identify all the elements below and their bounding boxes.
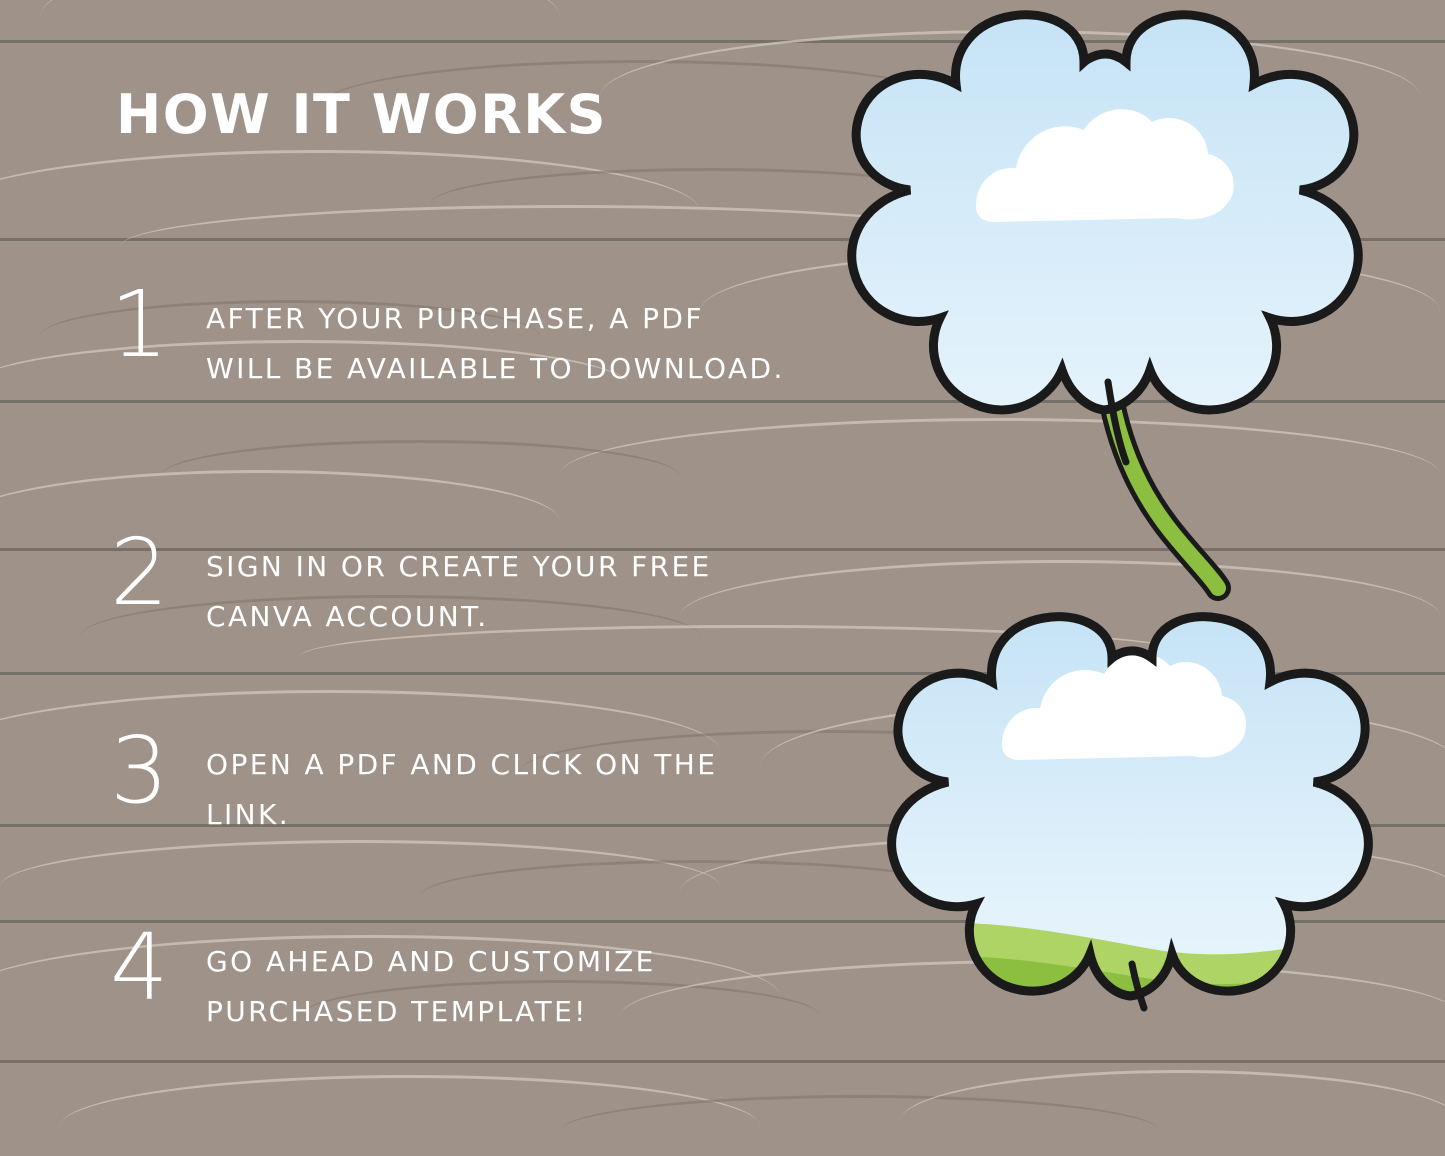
four-leaf-clover-top-icon xyxy=(826,10,1386,630)
page-title: HOW IT WORKS xyxy=(116,88,607,142)
step-item-4: 4 Go ahead and customize purchased templ… xyxy=(110,925,786,1037)
step-number: 4 xyxy=(110,925,206,1011)
step-number: 1 xyxy=(110,282,206,368)
step-item-2: 2 Sign in or create your free Canva acco… xyxy=(110,530,786,642)
step-number: 2 xyxy=(110,530,206,616)
how-it-works-graphic: HOW IT WORKS 1 After your purchase, a PD… xyxy=(0,0,1445,1156)
step-text: Open a PDF and click on the link. xyxy=(206,728,786,840)
step-number: 3 xyxy=(110,728,206,814)
step-text: Sign in or create your free Canva accoun… xyxy=(206,530,786,642)
step-text: Go ahead and customize purchased templat… xyxy=(206,925,786,1037)
step-item-3: 3 Open a PDF and click on the link. xyxy=(110,728,786,840)
step-item-1: 1 After your purchase, a PDF will be ava… xyxy=(110,282,786,394)
four-leaf-clover-bottom-icon xyxy=(880,612,1400,1142)
step-text: After your purchase, a PDF will be avail… xyxy=(206,282,786,394)
text-column: HOW IT WORKS 1 After your purchase, a PD… xyxy=(0,0,860,1156)
